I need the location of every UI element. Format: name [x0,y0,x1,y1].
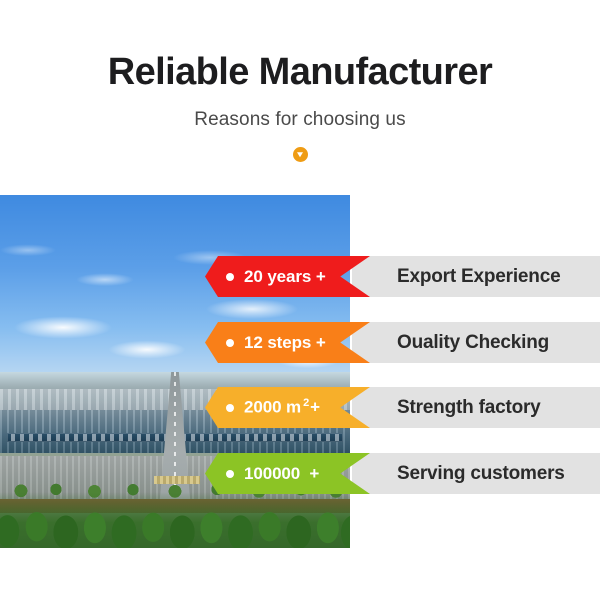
aerial-factory-complex-photo [0,195,350,548]
feature-value: 100000 [244,464,300,483]
feature-label-bar: Export Experience [352,256,600,297]
feature-value-tag[interactable]: 2000 m2+ [205,387,370,428]
feature-value: 20 years [244,267,311,286]
feature-label: Serving customers [397,463,565,485]
bullet-dot-icon [226,470,234,478]
feature-value: 12 steps [244,333,311,352]
feature-label-bar: Serving customers [352,453,600,494]
header: Reliable Manufacturer Reasons for choosi… [0,0,600,168]
bullet-dot-icon [226,404,234,412]
feature-value-text: 2000 m2+ [244,397,320,418]
feature-plus: + [310,398,320,417]
bullet-dot-icon [226,339,234,347]
pin-marker-icon [293,147,308,162]
promo-banner-page: Reliable Manufacturer Reasons for choosi… [0,0,600,600]
feature-label: Ouality Checking [397,332,549,354]
feature-value-tag[interactable]: 20 years + [205,256,370,297]
feature-label: Strength factory [397,397,541,419]
badge-container [0,132,600,168]
feature-plus: + [316,333,326,352]
feature-row-export-experience[interactable]: Export Experience 20 years + [205,256,600,297]
bullet-dot-icon [226,273,234,281]
feature-plus: + [309,464,319,483]
feature-label-bar: Ouality Checking [352,322,600,363]
feature-value-superscript: 2 [303,397,309,409]
feature-row-strength-factory[interactable]: Strength factory 2000 m2+ [205,387,600,428]
feature-value-text: 12 steps + [244,333,326,353]
feature-label: Export Experience [397,266,560,288]
feature-value-text: 100000 + [244,464,319,484]
feature-value: 2000 m [244,398,301,417]
feature-row-serving-customers[interactable]: Serving customers 100000 + [205,453,600,494]
feature-value-tag[interactable]: 12 steps + [205,322,370,363]
page-subtitle: Reasons for choosing us [0,94,600,132]
foreground-treeline [0,492,350,548]
page-title: Reliable Manufacturer [0,0,600,94]
feature-value-text: 20 years + [244,267,326,287]
feature-value-tag[interactable]: 100000 + [205,453,370,494]
feature-plus: + [316,267,326,286]
feature-row-quality-checking[interactable]: Ouality Checking 12 steps + [205,322,600,363]
feature-label-bar: Strength factory [352,387,600,428]
